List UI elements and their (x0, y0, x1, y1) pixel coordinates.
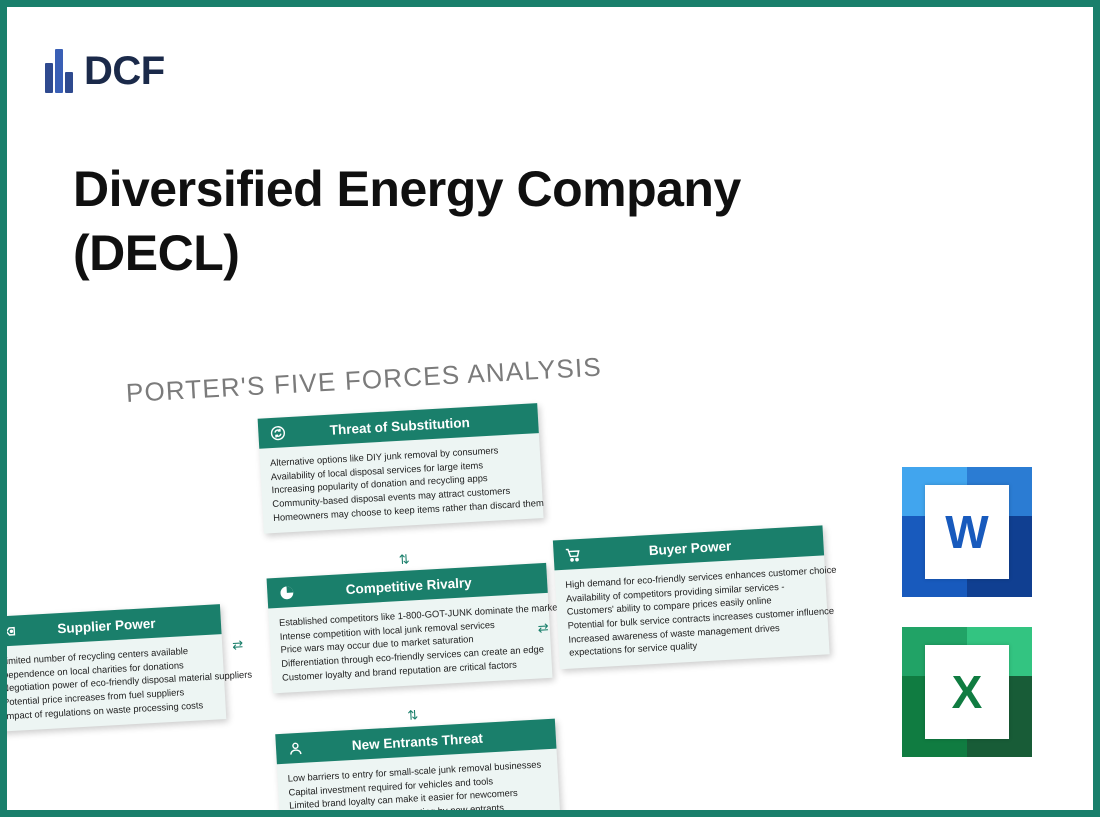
card-title: Buyer Power (582, 533, 813, 561)
pie-chart-icon (277, 582, 297, 602)
diagram-heading: PORTER'S FIVE FORCES ANALYSIS (125, 351, 603, 409)
connector-arrow-left: ⇄ (232, 638, 244, 652)
dcf-logo: DCF (45, 49, 165, 93)
porter-five-forces-diagram: PORTER'S FIVE FORCES ANALYSIS Threat of … (0, 313, 880, 817)
card-competitive-rivalry: Competitive Rivalry Established competit… (267, 563, 553, 694)
connector-arrow-top: ⇅ (398, 553, 410, 567)
microsoft-excel-icon[interactable]: X (902, 627, 1032, 757)
page-root: DCF Diversified Energy Company (DECL) PO… (0, 0, 1100, 817)
card-new-entrants-threat: New Entrants Threat Low barriers to entr… (275, 719, 560, 817)
card-body: Limited number of recycling centers avai… (0, 634, 226, 732)
card-title: New Entrants Threat (305, 727, 546, 755)
connector-arrow-right: ⇄ (537, 621, 549, 635)
shopping-cart-icon (563, 544, 583, 564)
connector-arrow-bottom: ⇅ (407, 708, 419, 722)
microsoft-word-icon[interactable]: W (902, 467, 1032, 597)
card-supplier-power: Supplier Power Limited number of recycli… (0, 604, 226, 732)
page-title: Diversified Energy Company (DECL) (73, 157, 873, 285)
card-body: High demand for eco-friendly services en… (555, 555, 830, 669)
card-buyer-power: Buyer Power High demand for eco-friendly… (553, 525, 830, 669)
word-letter: W (925, 485, 1008, 579)
card-threat-of-substitution: Threat of Substitution Alternative optio… (258, 403, 544, 534)
card-body: Established competitors like 1-800-GOT-J… (268, 593, 552, 694)
excel-letter: X (925, 645, 1008, 739)
tag-icon (0, 621, 19, 641)
card-title: Competitive Rivalry (296, 571, 537, 599)
logo-text: DCF (84, 51, 165, 91)
card-title: Supplier Power (18, 612, 212, 638)
user-icon (286, 738, 306, 758)
logo-bars-icon (45, 49, 75, 93)
card-title: Threat of Substitution (287, 411, 528, 439)
refresh-cycle-icon (268, 423, 288, 443)
card-body: Alternative options like DIY junk remova… (259, 433, 543, 534)
